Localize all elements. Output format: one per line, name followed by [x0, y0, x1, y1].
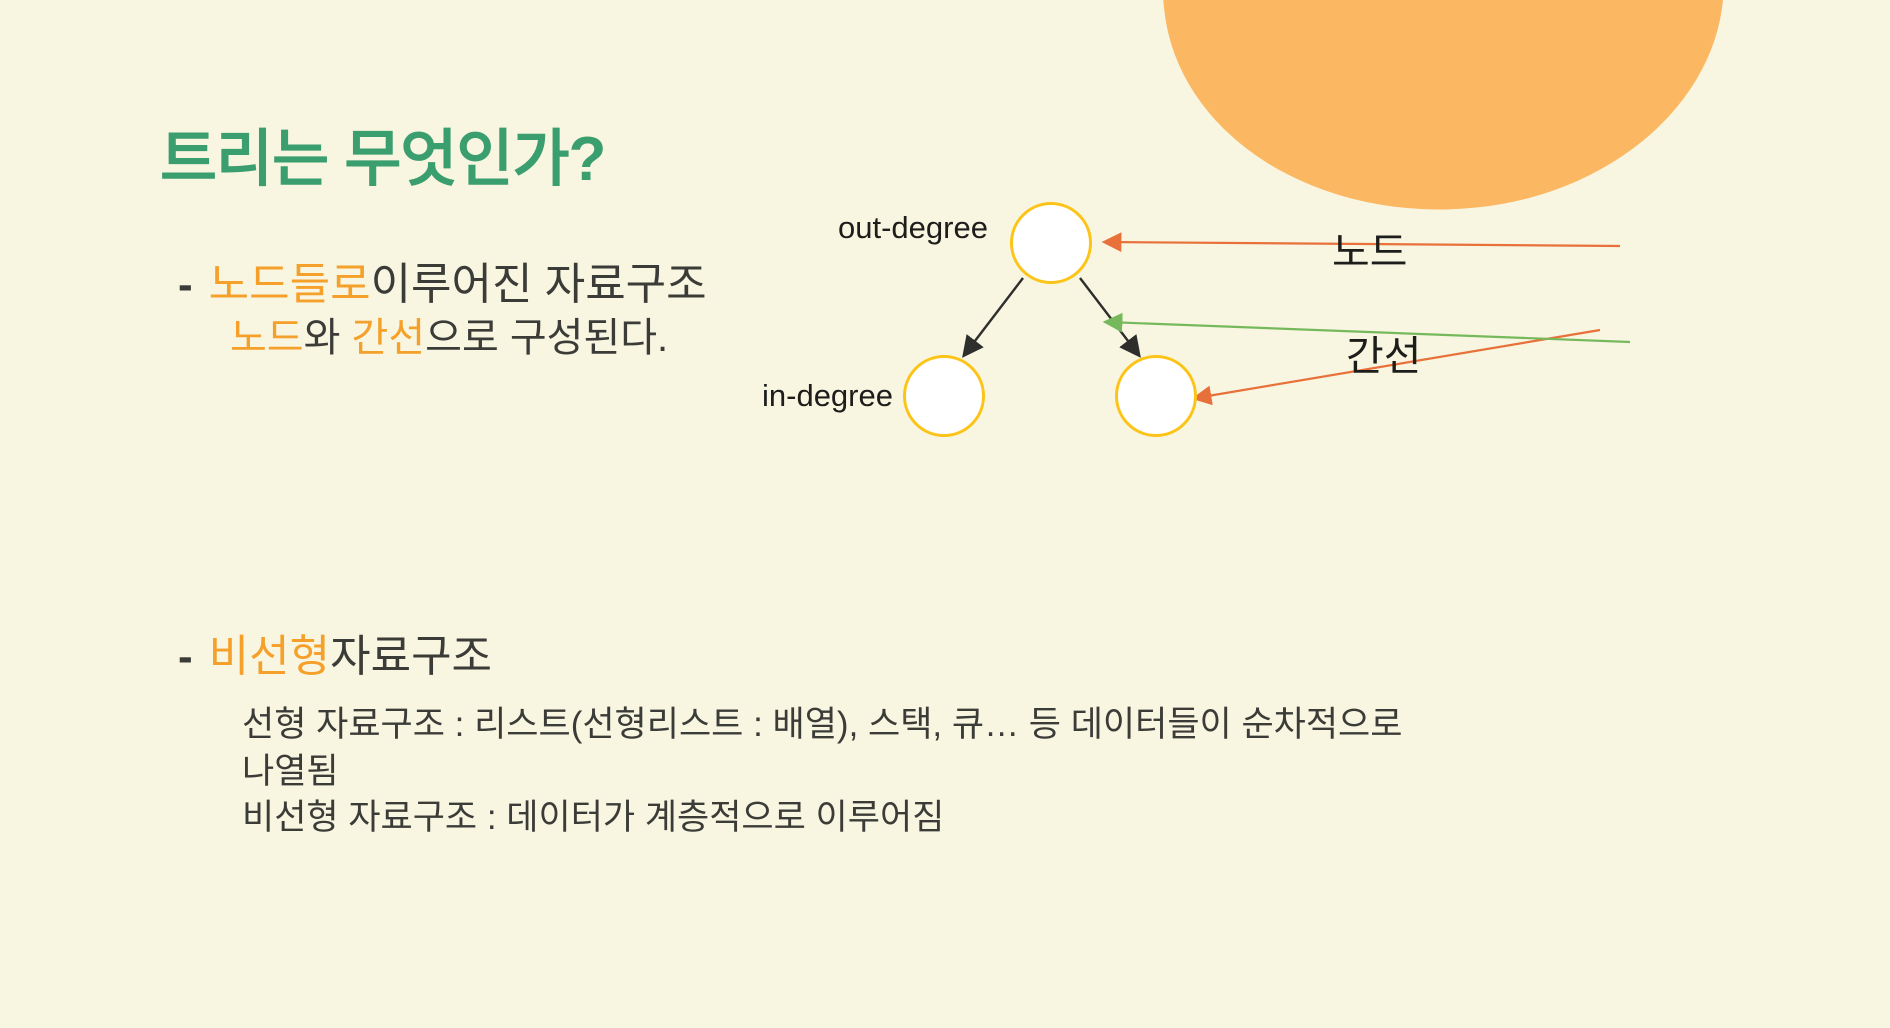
tree-edge-root-right	[1080, 278, 1138, 354]
tree-node-left	[903, 355, 985, 437]
detail-text-block: 선형 자료구조 : 리스트(선형리스트 : 배열), 스택, 큐… 등 데이터들…	[242, 702, 1402, 842]
bullet-2-rest: 자료구조	[330, 630, 492, 684]
subline-highlight-node: 노드	[230, 316, 304, 360]
tree-node-root	[1010, 202, 1092, 284]
subline-text-2: 으로 구성된다.	[425, 316, 668, 360]
tree-diagram: out-degree in-degree 노드 간선	[740, 150, 1890, 530]
subline-text-1: 와	[304, 316, 352, 360]
bullet-dash: -	[178, 630, 193, 684]
bullet-1-subline: 노드와 간선으로 구성된다.	[230, 312, 707, 364]
bullet-2-highlight: 비선형	[209, 630, 330, 684]
detail-line-3: 비선형 자료구조 : 데이터가 계층적으로 이루어짐	[242, 795, 1402, 842]
label-node: 노드	[1332, 218, 1407, 278]
bullet-dash: -	[178, 258, 193, 312]
bullet-line-2: - 비선형 자료구조	[178, 630, 492, 684]
subline-highlight-edge: 간선	[352, 316, 426, 360]
page-title: 트리는 무엇인가?	[160, 108, 605, 198]
label-edge: 간선	[1346, 322, 1421, 382]
tree-node-right	[1115, 355, 1197, 437]
tree-edge-root-left	[965, 278, 1023, 354]
detail-line-1: 선형 자료구조 : 리스트(선형리스트 : 배열), 스택, 큐… 등 데이터들…	[242, 702, 1402, 749]
bullet-1-highlight: 노드들로	[209, 258, 371, 312]
bullet-1-rest: 이루어진 자료구조	[371, 258, 707, 312]
bullet-line-1: - 노드들로 이루어진 자료구조	[178, 258, 707, 312]
bullet-block-nonlinear: - 비선형 자료구조	[178, 630, 492, 684]
label-in-degree: in-degree	[762, 378, 893, 414]
bullet-block-nodes: - 노드들로 이루어진 자료구조 노드와 간선으로 구성된다.	[178, 258, 707, 364]
label-out-degree: out-degree	[838, 210, 988, 246]
detail-line-2: 나열됨	[242, 749, 1402, 796]
tree-diagram-svg	[740, 150, 1890, 530]
slide: 트리는 무엇인가? - 노드들로 이루어진 자료구조 노드와 간선으로 구성된다…	[0, 0, 1890, 1028]
